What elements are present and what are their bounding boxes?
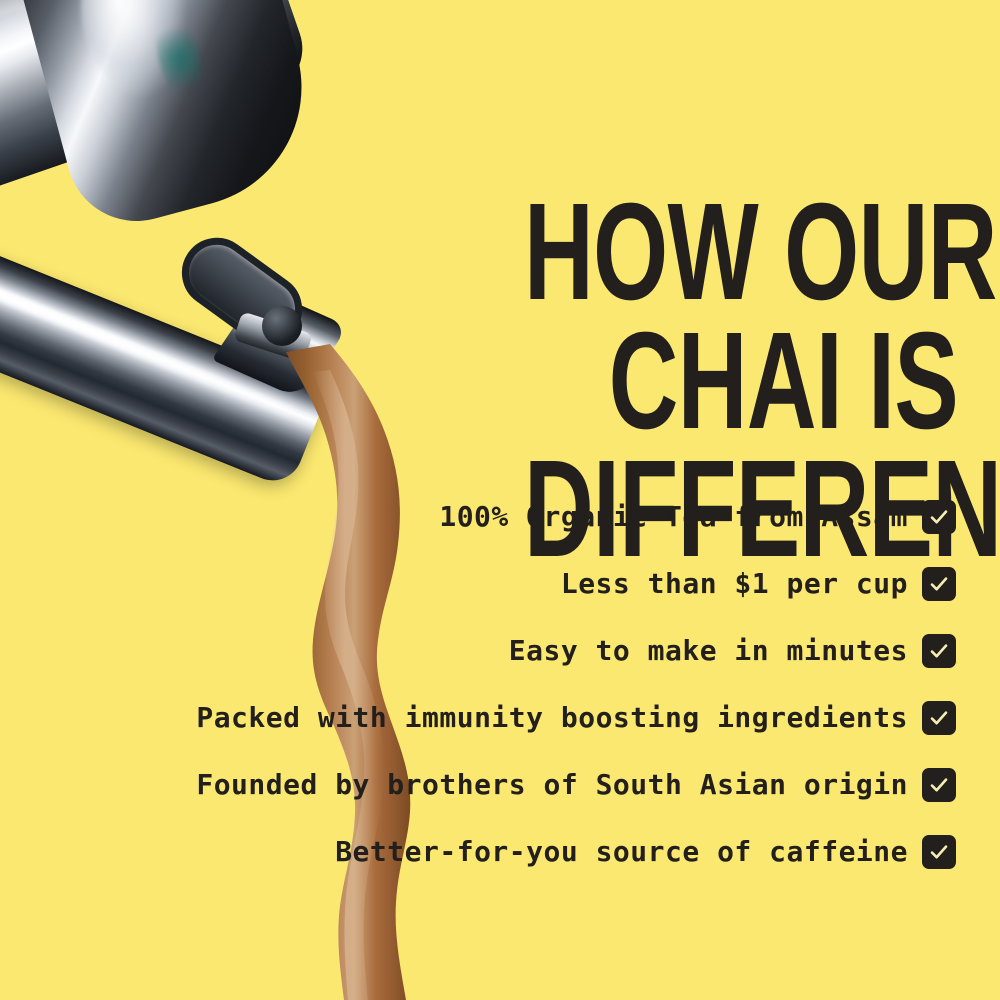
checklist-label: Packed with immunity boosting ingredient… [196,704,908,732]
headline-line-1: HOW OUR [524,188,958,316]
list-item: Easy to make in minutes [509,634,956,668]
list-item: Better-for-you source of caffeine [335,835,956,869]
checklist-label: Less than $1 per cup [561,570,908,598]
list-item: Founded by brothers of South Asian origi… [196,768,956,802]
teapot-lid-clip [168,224,316,358]
checkbox-checked-icon[interactable] [922,500,956,534]
list-item: 100% Organic Tea from Assam [439,500,956,534]
list-item: Packed with immunity boosting ingredient… [196,701,956,735]
teapot-spout [0,232,330,489]
teapot-latch-knob [262,306,302,346]
checklist-label: Better-for-you source of caffeine [335,838,908,866]
product-feature-poster: HOW OUR CHAI IS DIFFERENT 100% Organic T… [0,0,1000,1000]
teapot-body [0,0,315,259]
headline-line-2: CHAI IS [524,317,958,445]
checklist-label: Founded by brothers of South Asian origi… [196,771,908,799]
feature-checklist: 100% Organic Tea from Assam Less than $1… [76,500,956,869]
checklist-label: 100% Organic Tea from Assam [439,503,908,531]
list-item: Less than $1 per cup [561,567,956,601]
teapot-spout-tip [212,287,349,398]
checkbox-checked-icon[interactable] [922,634,956,668]
checkbox-checked-icon[interactable] [922,567,956,601]
checkbox-checked-icon[interactable] [922,835,956,869]
checkbox-checked-icon[interactable] [922,701,956,735]
teapot-shoulder [2,0,329,237]
teapot-latch-plate [233,311,313,362]
checklist-label: Easy to make in minutes [509,637,908,665]
checkbox-checked-icon[interactable] [922,768,956,802]
